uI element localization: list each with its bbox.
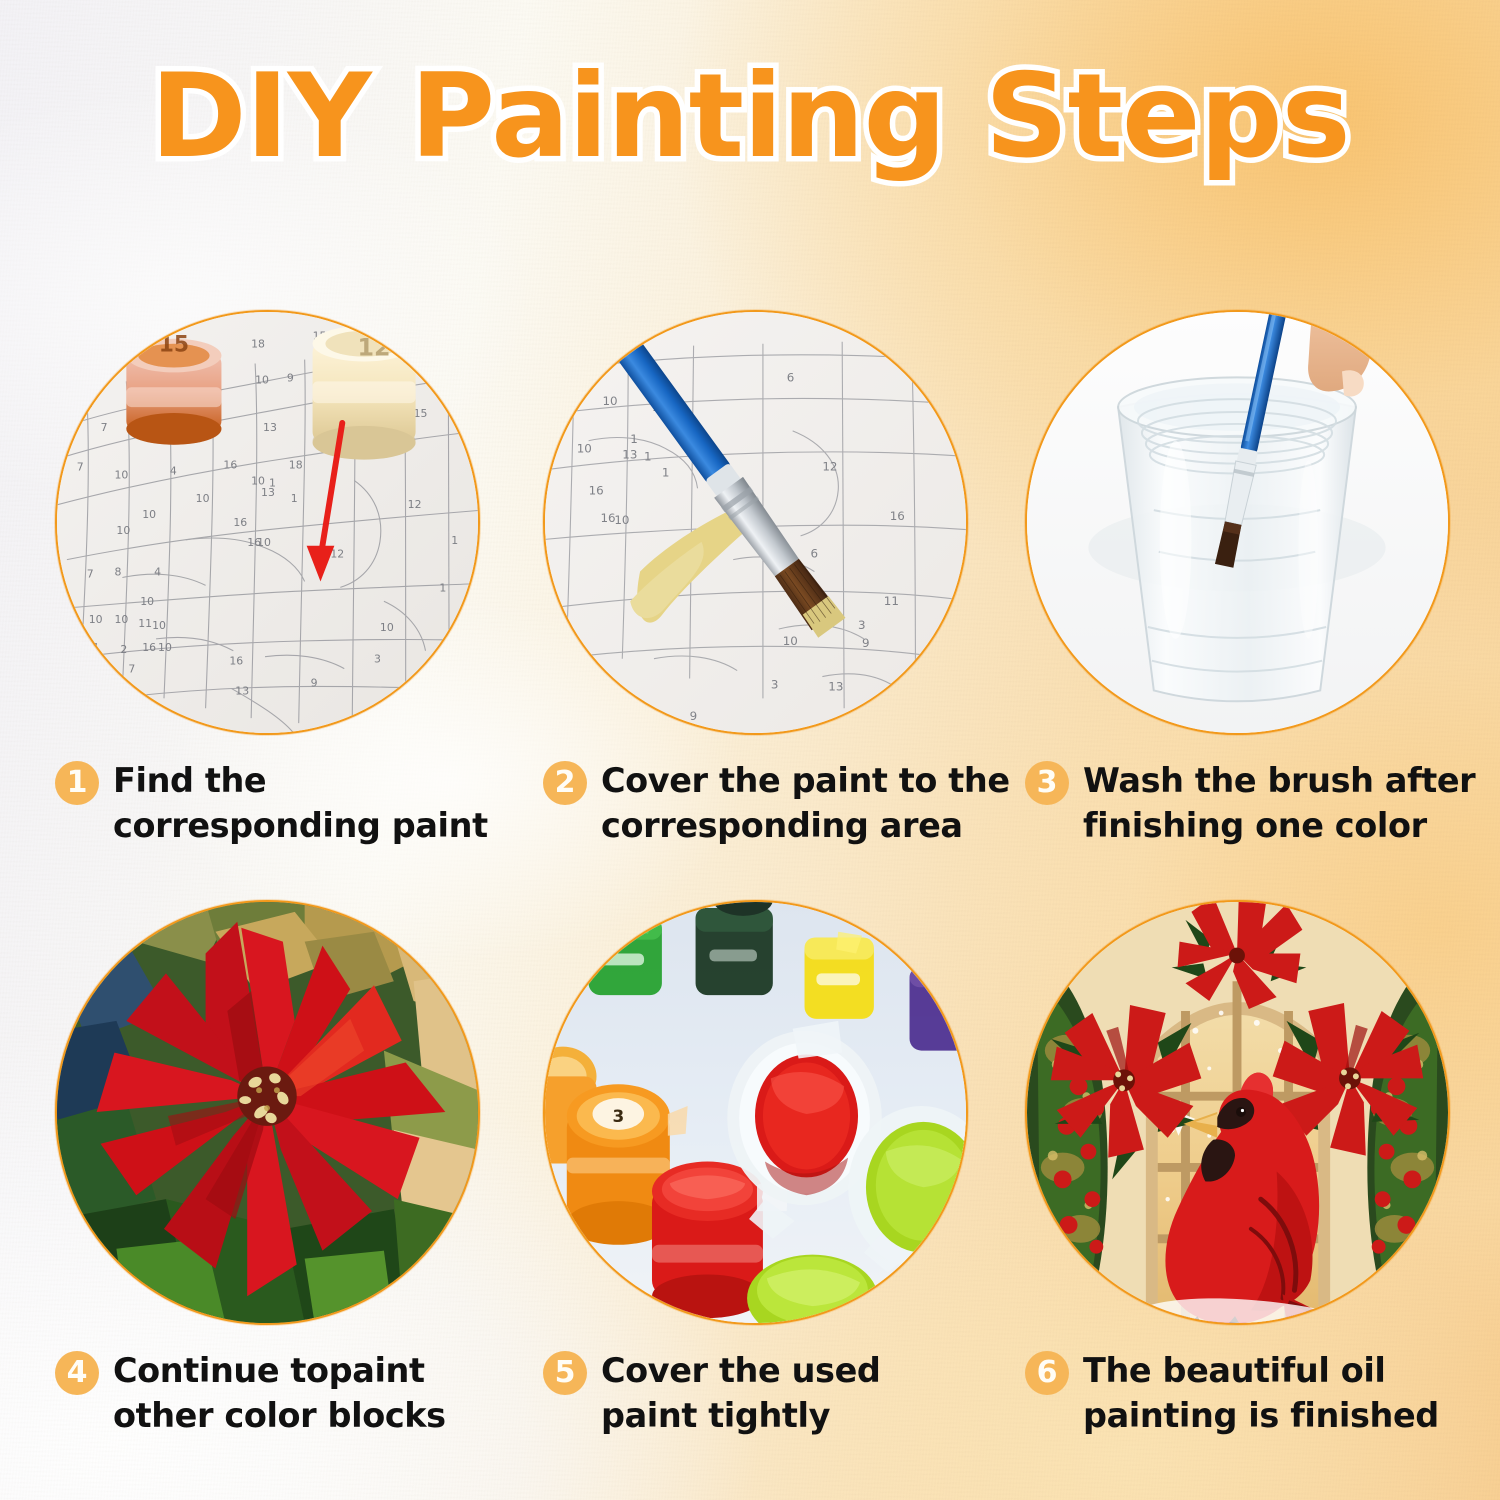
- svg-text:9: 9: [287, 371, 294, 384]
- brush-rinsing-in-water-cup-illustration: [1027, 312, 1448, 733]
- svg-text:4: 4: [170, 464, 177, 477]
- step-6: 6 The beautiful oil painting is finished: [1025, 900, 1495, 1438]
- step-6-line1: The beautiful oil: [1083, 1349, 1439, 1394]
- finished-cardinal-painting-illustration: [1027, 902, 1448, 1323]
- step-1-photo: 181517 10913 181215 477 101010 1034 1016…: [55, 310, 480, 735]
- svg-text:10: 10: [89, 613, 103, 626]
- svg-text:6: 6: [787, 370, 795, 384]
- svg-text:10: 10: [255, 373, 269, 386]
- step-6-caption: 6 The beautiful oil painting is finished: [1025, 1349, 1495, 1438]
- svg-text:16: 16: [223, 459, 237, 472]
- svg-text:1: 1: [451, 534, 458, 547]
- svg-text:10: 10: [114, 613, 128, 626]
- svg-text:3: 3: [612, 1106, 624, 1126]
- svg-text:9: 9: [311, 676, 318, 689]
- svg-text:10: 10: [114, 468, 128, 481]
- step-1-line2: corresponding paint: [113, 804, 488, 849]
- steps-grid: 181517 10913 181215 477 101010 1034 1016…: [0, 0, 1500, 1500]
- svg-text:16: 16: [142, 641, 156, 654]
- hand-icon: [1308, 312, 1372, 396]
- svg-text:10: 10: [614, 513, 629, 527]
- step-4-line2: other color blocks: [113, 1394, 446, 1439]
- svg-text:1: 1: [630, 432, 638, 446]
- step-6-text: The beautiful oil painting is finished: [1083, 1349, 1439, 1438]
- step-1-text: Find the corresponding paint: [113, 759, 488, 848]
- svg-text:16: 16: [890, 509, 905, 523]
- step-3-photo: [1025, 310, 1450, 735]
- svg-text:11: 11: [884, 594, 899, 608]
- svg-text:13: 13: [828, 679, 843, 693]
- svg-text:7: 7: [77, 460, 84, 473]
- svg-text:10: 10: [140, 595, 154, 608]
- step-5-line1: Cover the used: [601, 1349, 880, 1394]
- painted-poinsettia-closeup-illustration: [57, 902, 478, 1323]
- svg-text:18: 18: [251, 338, 265, 351]
- step-3-line2: finishing one color: [1083, 804, 1475, 849]
- svg-text:13: 13: [261, 486, 275, 499]
- step-5-photo: 3: [543, 900, 968, 1325]
- svg-text:10: 10: [116, 524, 130, 537]
- step-5: 3: [543, 900, 1013, 1438]
- step-3: 3 Wash the brush after finishing one col…: [1025, 310, 1495, 848]
- svg-text:10: 10: [577, 442, 592, 456]
- step-5-badge: 5: [543, 1351, 587, 1395]
- svg-text:18: 18: [289, 459, 303, 472]
- svg-text:10: 10: [196, 492, 210, 505]
- step-2-photo: 131810 10113 1116 161012 16113 1093 1396…: [543, 310, 968, 735]
- svg-text:3: 3: [374, 653, 381, 666]
- svg-text:7: 7: [128, 663, 135, 676]
- step-5-caption: 5 Cover the used paint tightly: [543, 1349, 1013, 1438]
- svg-text:10: 10: [380, 621, 394, 634]
- step-4-badge: 4: [55, 1351, 99, 1395]
- step-2-badge: 2: [543, 761, 587, 805]
- svg-text:1: 1: [662, 465, 670, 479]
- svg-text:1: 1: [439, 581, 446, 594]
- svg-text:15: 15: [414, 407, 428, 420]
- svg-text:10: 10: [142, 508, 156, 521]
- svg-text:1: 1: [93, 641, 100, 654]
- step-4-caption: 4 Continue topaint other color blocks: [55, 1349, 525, 1438]
- svg-text:7: 7: [87, 567, 94, 580]
- pot-label-15: 15: [159, 333, 189, 358]
- svg-text:10: 10: [602, 394, 617, 408]
- step-1-line1: Find the: [113, 759, 488, 804]
- svg-text:9: 9: [690, 709, 698, 723]
- step-3-caption: 3 Wash the brush after finishing one col…: [1025, 759, 1495, 848]
- brush-painting-canvas-illustration: 131810 10113 1116 161012 16113 1093 1396…: [545, 312, 966, 733]
- svg-text:8: 8: [114, 565, 121, 578]
- step-5-line2: paint tightly: [601, 1394, 880, 1439]
- svg-text:10: 10: [257, 536, 271, 549]
- svg-text:16: 16: [600, 511, 615, 525]
- svg-text:10: 10: [152, 619, 166, 632]
- svg-text:12: 12: [408, 498, 422, 511]
- svg-text:11: 11: [138, 617, 152, 630]
- step-2-text: Cover the paint to the corresponding are…: [601, 759, 1010, 848]
- svg-text:13: 13: [622, 448, 637, 462]
- step-1-caption: 1 Find the corresponding paint: [55, 759, 525, 848]
- svg-text:4: 4: [154, 565, 161, 578]
- step-3-text: Wash the brush after finishing one color: [1083, 759, 1475, 848]
- svg-text:4: 4: [87, 397, 94, 410]
- open-paint-pots-illustration: 3: [545, 902, 966, 1323]
- step-2-caption: 2 Cover the paint to the corresponding a…: [543, 759, 1013, 848]
- svg-text:9: 9: [862, 636, 870, 650]
- step-3-line1: Wash the brush after: [1083, 759, 1475, 804]
- step-2-line1: Cover the paint to the: [601, 759, 1010, 804]
- step-2: 131810 10113 1116 161012 16113 1093 1396…: [543, 310, 1013, 848]
- svg-text:1: 1: [291, 492, 298, 505]
- step-4-photo: [55, 900, 480, 1325]
- svg-text:13: 13: [235, 684, 249, 697]
- step-4: 4 Continue topaint other color blocks: [55, 900, 525, 1438]
- svg-text:13: 13: [263, 421, 277, 434]
- svg-text:16: 16: [589, 483, 604, 497]
- svg-text:10: 10: [158, 641, 172, 654]
- step-2-line2: corresponding area: [601, 804, 1010, 849]
- step-3-badge: 3: [1025, 761, 1069, 805]
- svg-text:16: 16: [233, 516, 247, 529]
- svg-text:16: 16: [229, 655, 243, 668]
- numbered-canvas-with-paint-pots-illustration: 181517 10913 181215 477 101010 1034 1016…: [57, 312, 478, 733]
- step-1-badge: 1: [55, 761, 99, 805]
- svg-text:3: 3: [858, 618, 866, 632]
- svg-text:1: 1: [644, 450, 652, 464]
- page-title-wrapper: DIY Painting Steps: [0, 56, 1500, 178]
- svg-text:6: 6: [810, 547, 818, 561]
- page-title: DIY Painting Steps: [150, 56, 1349, 178]
- step-6-line2: painting is finished: [1083, 1394, 1439, 1439]
- step-1: 181517 10913 181215 477 101010 1034 1016…: [55, 310, 525, 848]
- step-6-photo: [1025, 900, 1450, 1325]
- step-6-badge: 6: [1025, 1351, 1069, 1395]
- svg-text:12: 12: [822, 459, 837, 473]
- svg-text:10: 10: [783, 634, 798, 648]
- step-4-text: Continue topaint other color blocks: [113, 1349, 446, 1438]
- svg-text:7: 7: [101, 421, 108, 434]
- svg-text:2: 2: [120, 643, 127, 656]
- pot-label-12: 12: [357, 334, 390, 362]
- step-5-text: Cover the used paint tightly: [601, 1349, 880, 1438]
- step-4-line1: Continue topaint: [113, 1349, 446, 1394]
- svg-text:3: 3: [771, 677, 779, 691]
